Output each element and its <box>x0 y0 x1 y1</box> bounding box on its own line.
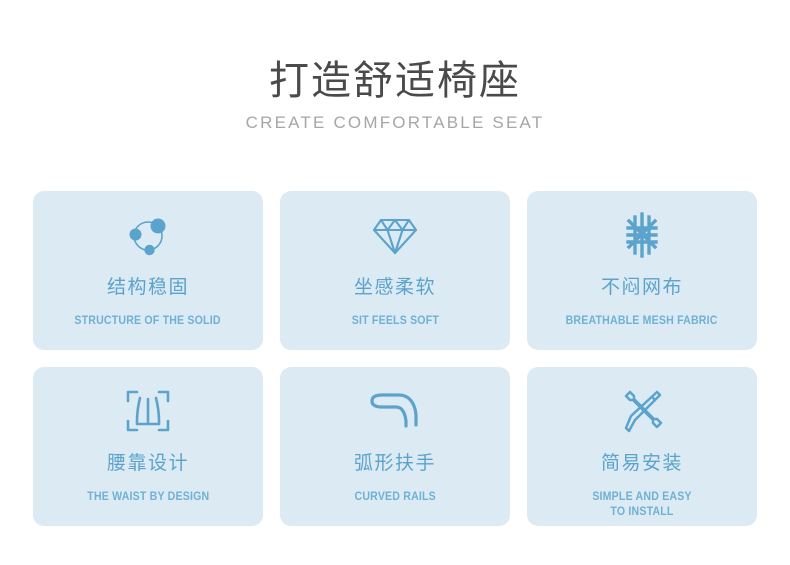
feature-subtitle-line: SIMPLE AND EASY <box>592 490 691 505</box>
feature-title: 弧形扶手 <box>354 452 436 476</box>
feature-card-grid: 结构稳固 STRUCTURE OF THE SOLID 坐感柔软 SIT FEE… <box>33 191 757 526</box>
lumbar-backrest-frame-icon <box>121 386 175 436</box>
feature-card-soft-seat[interactable]: 坐感柔软 SIT FEELS SOFT <box>280 191 510 350</box>
feature-card-mesh-fabric[interactable]: 不闷网布 BREATHABLE MESH FABRIC <box>527 191 757 350</box>
page-subtitle: CREATE COMFORTABLE SEAT <box>0 110 790 136</box>
curved-armrest-icon <box>368 386 422 436</box>
feature-subtitle: STRUCTURE OF THE SOLID <box>75 314 221 329</box>
feature-subtitle: THE WAIST BY DESIGN <box>87 490 209 505</box>
page-header: 打造舒适椅座 CREATE COMFORTABLE SEAT <box>0 0 790 136</box>
feature-title: 坐感柔软 <box>354 276 436 300</box>
feature-card-lumbar-design[interactable]: 腰靠设计 THE WAIST BY DESIGN <box>33 367 263 526</box>
feature-subtitle: SIMPLE AND EASY TO INSTALL <box>592 490 691 520</box>
feature-subtitle-line: STRUCTURE OF THE SOLID <box>75 314 221 329</box>
feature-card-easy-install[interactable]: 简易安装 SIMPLE AND EASY TO INSTALL <box>527 367 757 526</box>
feature-subtitle-line: TO INSTALL <box>592 505 691 520</box>
feature-subtitle-line: SIT FEELS SOFT <box>351 314 438 329</box>
feature-title: 简易安装 <box>601 452 683 476</box>
feature-card-curved-armrest[interactable]: 弧形扶手 CURVED RAILS <box>280 367 510 526</box>
feature-subtitle: BREATHABLE MESH FABRIC <box>566 314 718 329</box>
diamond-icon <box>368 210 422 260</box>
feature-title: 结构稳固 <box>107 276 189 300</box>
screwdriver-wrench-icon <box>615 386 669 436</box>
page-title: 打造舒适椅座 <box>0 56 790 106</box>
molecule-structure-icon <box>121 210 175 260</box>
feature-subtitle: SIT FEELS SOFT <box>351 314 438 329</box>
feature-subtitle-line: BREATHABLE MESH FABRIC <box>566 314 718 329</box>
feature-title: 腰靠设计 <box>107 452 189 476</box>
feature-subtitle-line: THE WAIST BY DESIGN <box>87 490 209 505</box>
mesh-fabric-icon <box>615 210 669 260</box>
feature-title: 不闷网布 <box>601 276 683 300</box>
feature-subtitle: CURVED RAILS <box>354 490 435 505</box>
feature-card-structure[interactable]: 结构稳固 STRUCTURE OF THE SOLID <box>33 191 263 350</box>
feature-subtitle-line: CURVED RAILS <box>354 490 435 505</box>
